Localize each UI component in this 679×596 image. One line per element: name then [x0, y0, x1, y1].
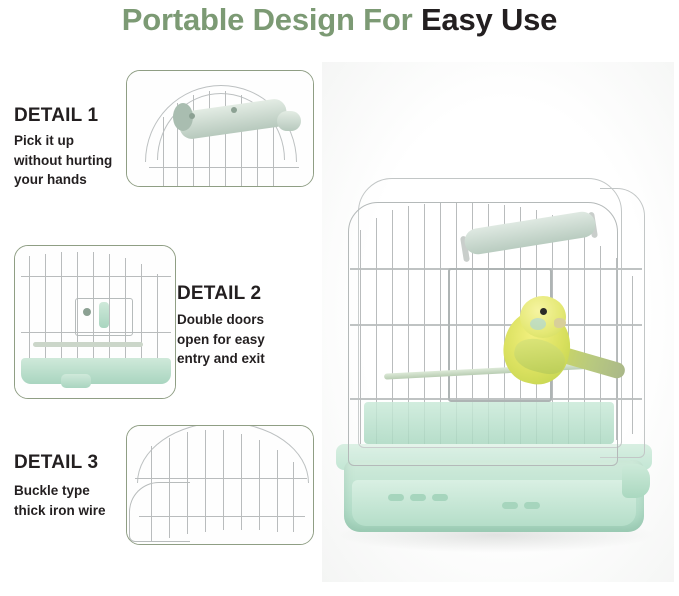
callout-2-image — [15, 246, 175, 398]
wire-vertical — [223, 430, 224, 530]
handle-end — [277, 111, 301, 131]
handle-screw — [231, 107, 237, 113]
callout-photo-wire — [126, 425, 314, 545]
wire-horizontal — [149, 167, 299, 168]
cage-bar — [616, 258, 617, 440]
tray-vent — [388, 494, 404, 501]
wire-vertical — [163, 117, 164, 187]
perch — [33, 342, 143, 347]
wire-vertical — [29, 256, 30, 372]
bird-eye — [540, 308, 547, 315]
tray-vent — [432, 494, 448, 501]
wire-vertical — [293, 462, 294, 532]
tray-handle — [61, 374, 91, 388]
page-title-green: Portable Design For — [122, 2, 413, 37]
wire-horizontal — [135, 478, 307, 479]
tray-vent — [524, 502, 540, 509]
wire-horizontal — [21, 276, 171, 277]
callout-1-image — [127, 71, 313, 186]
detail-1-title: DETAIL 1 — [14, 105, 98, 127]
main-product-photo — [322, 62, 674, 582]
callout-photo-doors — [14, 245, 176, 399]
infographic-page: Portable Design For Easy Use DETAIL 1 Pi… — [0, 0, 679, 596]
cage-bar — [360, 230, 361, 444]
detail-2-title: DETAIL 2 — [177, 283, 261, 305]
bird-head — [520, 296, 566, 338]
wire-vertical — [45, 254, 46, 372]
tray-vent — [410, 494, 426, 501]
cage-body — [344, 172, 644, 462]
tray-side-handle — [622, 464, 650, 498]
detail-3-body: Buckle type thick iron wire — [14, 481, 106, 520]
handle-screw — [189, 113, 195, 119]
detail-1-body: Pick it up without hurting your hands — [14, 131, 112, 190]
wire-vertical — [61, 252, 62, 372]
callout-photo-handle — [126, 70, 314, 187]
wire-vertical — [141, 264, 142, 372]
page-title-dark: Easy Use — [421, 2, 557, 37]
detail-2-body: Double doors open for easy entry and exi… — [177, 310, 265, 369]
tray-edge — [21, 358, 171, 384]
hinge-dot — [83, 308, 91, 316]
wire-vertical — [193, 95, 194, 187]
door-latch — [99, 302, 109, 328]
callout-3-image — [127, 426, 313, 544]
wire-vertical — [277, 450, 278, 532]
page-title: Portable Design For Easy Use — [0, 2, 679, 38]
bird-cheek — [530, 318, 546, 330]
detail-3-title: DETAIL 3 — [14, 452, 98, 474]
wire-vertical — [209, 91, 210, 187]
tray-vent — [502, 502, 518, 509]
wire-bend — [129, 482, 190, 542]
wire-vertical — [273, 117, 274, 187]
cage-bar — [632, 276, 633, 434]
tray-front — [352, 480, 636, 526]
cage-inner-tray — [364, 402, 614, 444]
